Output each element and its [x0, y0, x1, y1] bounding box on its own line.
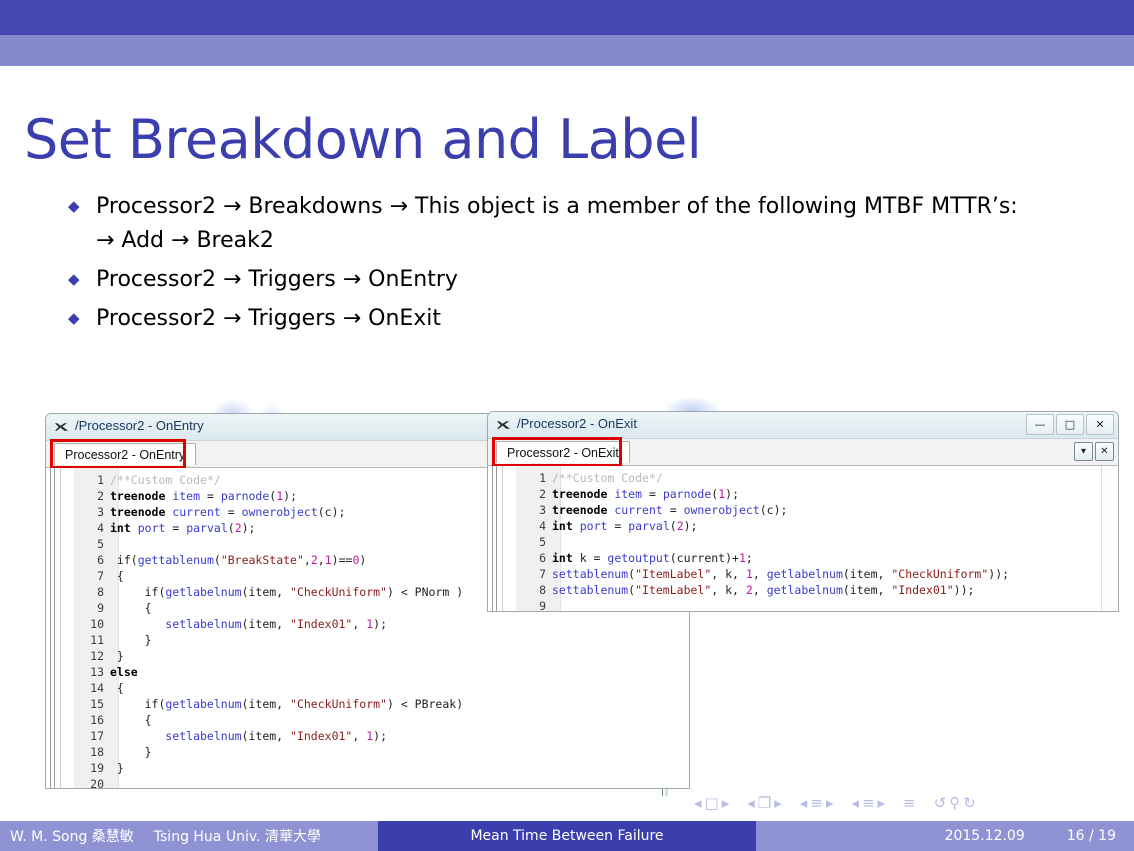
- subsection-icon[interactable]: ≡: [810, 796, 823, 811]
- code-token: treenode: [552, 487, 607, 501]
- code-line: 12 }: [74, 648, 463, 664]
- line-number: 1: [516, 470, 552, 486]
- line-number: 5: [516, 534, 552, 550]
- minimize-button[interactable]: —: [1026, 414, 1054, 435]
- code-token: ,: [318, 553, 325, 567]
- window-title-onexit: /Processor2 - OnExit: [517, 416, 637, 431]
- tab-processor2-onentry[interactable]: Processor2 - OnEntry: [54, 443, 196, 465]
- code-line: 1/**Custom Code*/: [516, 470, 1009, 486]
- prev-slide-icon[interactable]: ◂: [694, 796, 702, 811]
- code-token: "ItemLabel": [635, 567, 711, 581]
- code-token: current: [614, 503, 662, 517]
- code-token: "Index01": [891, 583, 953, 597]
- code-token: (item,: [242, 697, 290, 711]
- page-title: Set Breakdown and Label: [24, 108, 701, 171]
- code-line: 17 setlabelnum(item, "Index01", 1);: [74, 728, 463, 744]
- code-token: treenode: [552, 503, 607, 517]
- code-token: if(: [110, 697, 165, 711]
- code-token: =: [165, 521, 186, 535]
- line-number: 15: [74, 696, 110, 712]
- code-token: =: [200, 489, 221, 503]
- code-token: }: [110, 761, 124, 775]
- code-token: "CheckUniform": [891, 567, 988, 581]
- diamond-bullet-icon: ◆: [60, 263, 96, 297]
- line-number: 12: [74, 648, 110, 664]
- code-token: ) < PBreak): [387, 697, 463, 711]
- window-title-onentry: /Processor2 - OnEntry: [75, 418, 204, 433]
- list-item: ◆ Processor2 → Triggers → OnEntry: [60, 263, 1040, 297]
- beamer-headline-bar-dark: [0, 0, 1134, 35]
- forward-icon[interactable]: ↻: [963, 796, 976, 811]
- beamer-headline-bar-light: [0, 35, 1134, 66]
- code-token: {: [110, 713, 152, 727]
- line-number: 9: [74, 600, 110, 616]
- code-token: (item,: [843, 567, 891, 581]
- code-editor-onexit[interactable]: 1/**Custom Code*/2treenode item = parnod…: [488, 466, 1118, 612]
- code-token: =: [607, 519, 628, 533]
- code-line: 16 {: [74, 712, 463, 728]
- code-token: current: [172, 505, 220, 519]
- code-token: settablenum: [552, 567, 628, 581]
- list-item-label: Processor2 → Triggers → OnExit: [96, 302, 441, 336]
- slide-icon[interactable]: □: [705, 796, 719, 811]
- code-token: (item,: [242, 617, 290, 631]
- code-token: }: [110, 745, 152, 759]
- code-line: 9 {: [74, 600, 463, 616]
- code-token: ownerobject: [684, 503, 760, 517]
- next-subsection-icon[interactable]: ▸: [826, 796, 834, 811]
- code-token: port: [580, 519, 608, 533]
- section-icon[interactable]: ≡: [862, 796, 875, 811]
- code-token: =: [663, 503, 684, 517]
- code-token: (: [228, 521, 235, 535]
- code-line: 11 }: [74, 632, 463, 648]
- code-token: );: [684, 519, 698, 533]
- maximize-button[interactable]: □: [1056, 414, 1084, 435]
- line-number: 17: [74, 728, 110, 744]
- code-token: treenode: [110, 489, 165, 503]
- code-token: parnode: [663, 487, 711, 501]
- code-token: {: [110, 601, 152, 615]
- code-token: ,: [753, 583, 767, 597]
- tab-close-button[interactable]: ✕: [1095, 442, 1114, 461]
- code-token: );: [283, 489, 297, 503]
- code-line: 2treenode item = parnode(1);: [516, 486, 1009, 502]
- next-section-icon[interactable]: ▸: [878, 796, 886, 811]
- footer-author: W. M. Song 桑慧敏: [10, 826, 134, 846]
- code-token: int: [552, 551, 573, 565]
- code-token: [110, 729, 165, 743]
- code-line: 6int k = getoutput(current)+1;: [516, 550, 1009, 566]
- code-token: (item,: [242, 585, 290, 599]
- code-line: 15 if(getlabelnum(item, "CheckUniform") …: [74, 696, 463, 712]
- code-token: 2: [746, 583, 753, 597]
- code-line: 3treenode current = ownerobject(c);: [74, 504, 463, 520]
- line-number: 8: [74, 584, 110, 600]
- code-line: 18 }: [74, 744, 463, 760]
- code-token: );: [242, 521, 256, 535]
- code-line: 8 if(getlabelnum(item, "CheckUniform") <…: [74, 584, 463, 600]
- line-number: 4: [516, 518, 552, 534]
- code-line: 8settablenum("ItemLabel", k, 2, getlabel…: [516, 582, 1009, 598]
- code-token: item: [172, 489, 200, 503]
- code-token: setlabelnum: [165, 729, 241, 743]
- code-line: 2treenode item = parnode(1);: [74, 488, 463, 504]
- code-token: 1: [325, 553, 332, 567]
- line-number: 6: [516, 550, 552, 566]
- code-line: 4int port = parval(2);: [74, 520, 463, 536]
- code-token: /**Custom Code*/: [110, 473, 221, 487]
- line-number: 13: [74, 664, 110, 680]
- footer-title: Mean Time Between Failure: [470, 828, 663, 844]
- flexsim-logo-icon: [54, 420, 69, 434]
- code-token: 1: [746, 567, 753, 581]
- code-token: parval: [628, 519, 670, 533]
- code-token: =: [642, 487, 663, 501]
- line-number: 5: [74, 536, 110, 552]
- code-token: (c);: [318, 505, 346, 519]
- code-line: 20: [74, 776, 463, 789]
- code-line: 9: [516, 598, 1009, 612]
- code-token: ,: [352, 617, 366, 631]
- code-token: settablenum: [552, 583, 628, 597]
- bullet-list: ◆ Processor2 → Breakdowns → This object …: [60, 190, 1040, 341]
- list-item: ◆ Processor2 → Breakdowns → This object …: [60, 190, 1040, 258]
- code-token: parnode: [221, 489, 269, 503]
- code-token: getlabelnum: [767, 583, 843, 597]
- frames-icon[interactable]: ❐: [758, 796, 771, 811]
- code-token: parval: [186, 521, 228, 535]
- code-line: 5: [516, 534, 1009, 550]
- code-token: getlabelnum: [165, 585, 241, 599]
- code-token: item: [614, 487, 642, 501]
- code-token: );: [373, 617, 387, 631]
- tabstrip-onexit[interactable]: Processor2 - OnExit ▾ ✕: [488, 439, 1118, 466]
- code-token: port: [138, 521, 166, 535]
- code-token: =: [221, 505, 242, 519]
- code-token: "ItemLabel": [635, 583, 711, 597]
- next-frame-icon[interactable]: ▸: [774, 796, 782, 811]
- code-token: "Index01": [290, 729, 352, 743]
- code-token: 2: [311, 553, 318, 567]
- code-token: getlabelnum: [767, 567, 843, 581]
- code-token: "Index01": [290, 617, 352, 631]
- diamond-bullet-icon: ◆: [60, 302, 96, 336]
- next-slide-icon[interactable]: ▸: [722, 796, 730, 811]
- code-token: "BreakState": [221, 553, 304, 567]
- line-number: 3: [516, 502, 552, 518]
- code-token: 2: [677, 519, 684, 533]
- code-line: 14 {: [74, 680, 463, 696]
- footer-meta-segment: 2015.12.09 16 / 19: [756, 821, 1134, 851]
- code-line: 10 setlabelnum(item, "Index01", 1);: [74, 616, 463, 632]
- tabstrip-controls[interactable]: ▾ ✕: [1074, 442, 1114, 461]
- window-titlebar-onexit[interactable]: /Processor2 - OnExit — □ ✕: [488, 412, 1118, 439]
- code-token: ) < PNorm ): [387, 585, 463, 599]
- code-token: [110, 617, 165, 631]
- code-token: (item,: [843, 583, 891, 597]
- code-token: (: [214, 553, 221, 567]
- code-token: {: [110, 569, 124, 583]
- window-controls-onexit[interactable]: — □ ✕: [1026, 414, 1114, 435]
- code-token: ownerobject: [242, 505, 318, 519]
- code-token: /**Custom Code*/: [552, 471, 663, 485]
- code-token: "CheckUniform": [290, 585, 387, 599]
- code-token: (current)+: [670, 551, 739, 565]
- line-number: 18: [74, 744, 110, 760]
- line-number: 14: [74, 680, 110, 696]
- line-number: 11: [74, 632, 110, 648]
- line-number: 4: [74, 520, 110, 536]
- code-token: if(: [110, 585, 165, 599]
- line-number: 8: [516, 582, 552, 598]
- code-token: ;: [746, 551, 753, 565]
- code-line: 13else: [74, 664, 463, 680]
- code-line: 7 {: [74, 568, 463, 584]
- prev-frame-icon[interactable]: ◂: [747, 796, 755, 811]
- code-token: if(: [110, 553, 138, 567]
- code-token: getlabelnum: [165, 697, 241, 711]
- toc-icon[interactable]: ≡: [903, 796, 916, 811]
- code-line: 19 }: [74, 760, 463, 776]
- line-number: 7: [516, 566, 552, 582]
- code-token: , k,: [711, 567, 746, 581]
- code-token: ,: [352, 729, 366, 743]
- code-token: 1: [739, 551, 746, 565]
- code-token: else: [110, 665, 138, 679]
- code-token: , k,: [711, 583, 746, 597]
- footer-bar: W. M. Song 桑慧敏 Tsing Hua Univ. 清華大學 Mean…: [0, 821, 1134, 851]
- code-line: 1/**Custom Code*/: [74, 472, 463, 488]
- code-token: }: [110, 649, 124, 663]
- code-token: );: [725, 487, 739, 501]
- vertical-scrollbar[interactable]: [1101, 466, 1118, 612]
- list-item-label: Processor2 → Triggers → OnEntry: [96, 263, 458, 297]
- code-token: (: [670, 519, 677, 533]
- list-item-label: Processor2 → Breakdowns → This object is…: [96, 190, 1040, 258]
- code-token: );: [373, 729, 387, 743]
- line-number: 16: [74, 712, 110, 728]
- code-lines-onentry: 1/**Custom Code*/2treenode item = parnod…: [74, 472, 463, 789]
- code-token: ));: [954, 583, 975, 597]
- code-lines-onexit: 1/**Custom Code*/2treenode item = parnod…: [516, 470, 1009, 612]
- footer-title-segment: Mean Time Between Failure: [378, 821, 756, 851]
- code-line: 3treenode current = ownerobject(c);: [516, 502, 1009, 518]
- code-token: (c);: [760, 503, 788, 517]
- code-token: [131, 521, 138, 535]
- prev-subsection-icon[interactable]: ◂: [800, 796, 808, 811]
- code-token: int: [552, 519, 573, 533]
- code-token: ,: [304, 553, 311, 567]
- line-number: 9: [516, 598, 552, 612]
- beamer-navigation-bar[interactable]: ◂□▸◂❐▸◂≡▸◂≡▸≡↺⚲↻: [694, 796, 976, 811]
- tab-processor2-onexit[interactable]: Processor2 - OnExit: [496, 441, 630, 463]
- close-button[interactable]: ✕: [1086, 414, 1114, 435]
- list-item: ◆ Processor2 → Triggers → OnExit: [60, 302, 1040, 336]
- code-token: ,: [753, 567, 767, 581]
- line-number: 3: [74, 504, 110, 520]
- line-number: 2: [516, 486, 552, 502]
- line-number: 19: [74, 760, 110, 776]
- code-token: 2: [235, 521, 242, 535]
- window-onexit[interactable]: /Processor2 - OnExit — □ ✕ Processor2 - …: [487, 411, 1119, 612]
- line-number: 6: [74, 552, 110, 568]
- code-token: (item,: [242, 729, 290, 743]
- code-token: {: [110, 681, 124, 695]
- line-number: 7: [74, 568, 110, 584]
- back-icon[interactable]: ↺: [934, 796, 947, 811]
- line-number: 10: [74, 616, 110, 632]
- tab-dropdown-button[interactable]: ▾: [1074, 442, 1093, 461]
- prev-section-icon[interactable]: ◂: [851, 796, 859, 811]
- code-line: 6 if(gettablenum("BreakState",2,1)==0): [74, 552, 463, 568]
- line-number: 20: [74, 776, 110, 789]
- editor-left-rail: [488, 466, 503, 612]
- code-token: getoutput: [607, 551, 669, 565]
- code-line: 4int port = parval(2);: [516, 518, 1009, 534]
- code-token: [573, 519, 580, 533]
- code-token: treenode: [110, 505, 165, 519]
- code-token: k =: [573, 551, 608, 565]
- footer-institution: Tsing Hua Univ. 清華大學: [154, 826, 321, 846]
- footer-author-segment: W. M. Song 桑慧敏 Tsing Hua Univ. 清華大學: [0, 821, 378, 851]
- code-token: ));: [988, 567, 1009, 581]
- code-token: }: [110, 633, 152, 647]
- code-token: )==: [332, 553, 353, 567]
- editor-left-rail: [46, 468, 61, 789]
- search-icon[interactable]: ⚲: [949, 796, 960, 811]
- footer-page-number: 16 / 19: [1067, 828, 1116, 844]
- code-token: ): [359, 553, 366, 567]
- code-token: setlabelnum: [165, 617, 241, 631]
- footer-date: 2015.12.09: [945, 828, 1025, 844]
- embedded-screenshot: /Processor2 - OnEntry Processor2 - OnEnt…: [0, 396, 1134, 796]
- code-token: int: [110, 521, 131, 535]
- code-line: 5: [74, 536, 463, 552]
- diamond-bullet-icon: ◆: [60, 190, 96, 224]
- code-token: "CheckUniform": [290, 697, 387, 711]
- line-number: 2: [74, 488, 110, 504]
- flexsim-logo-icon: [496, 418, 511, 432]
- code-line: 7settablenum("ItemLabel", k, 1, getlabel…: [516, 566, 1009, 582]
- line-number: 1: [74, 472, 110, 488]
- code-token: gettablenum: [138, 553, 214, 567]
